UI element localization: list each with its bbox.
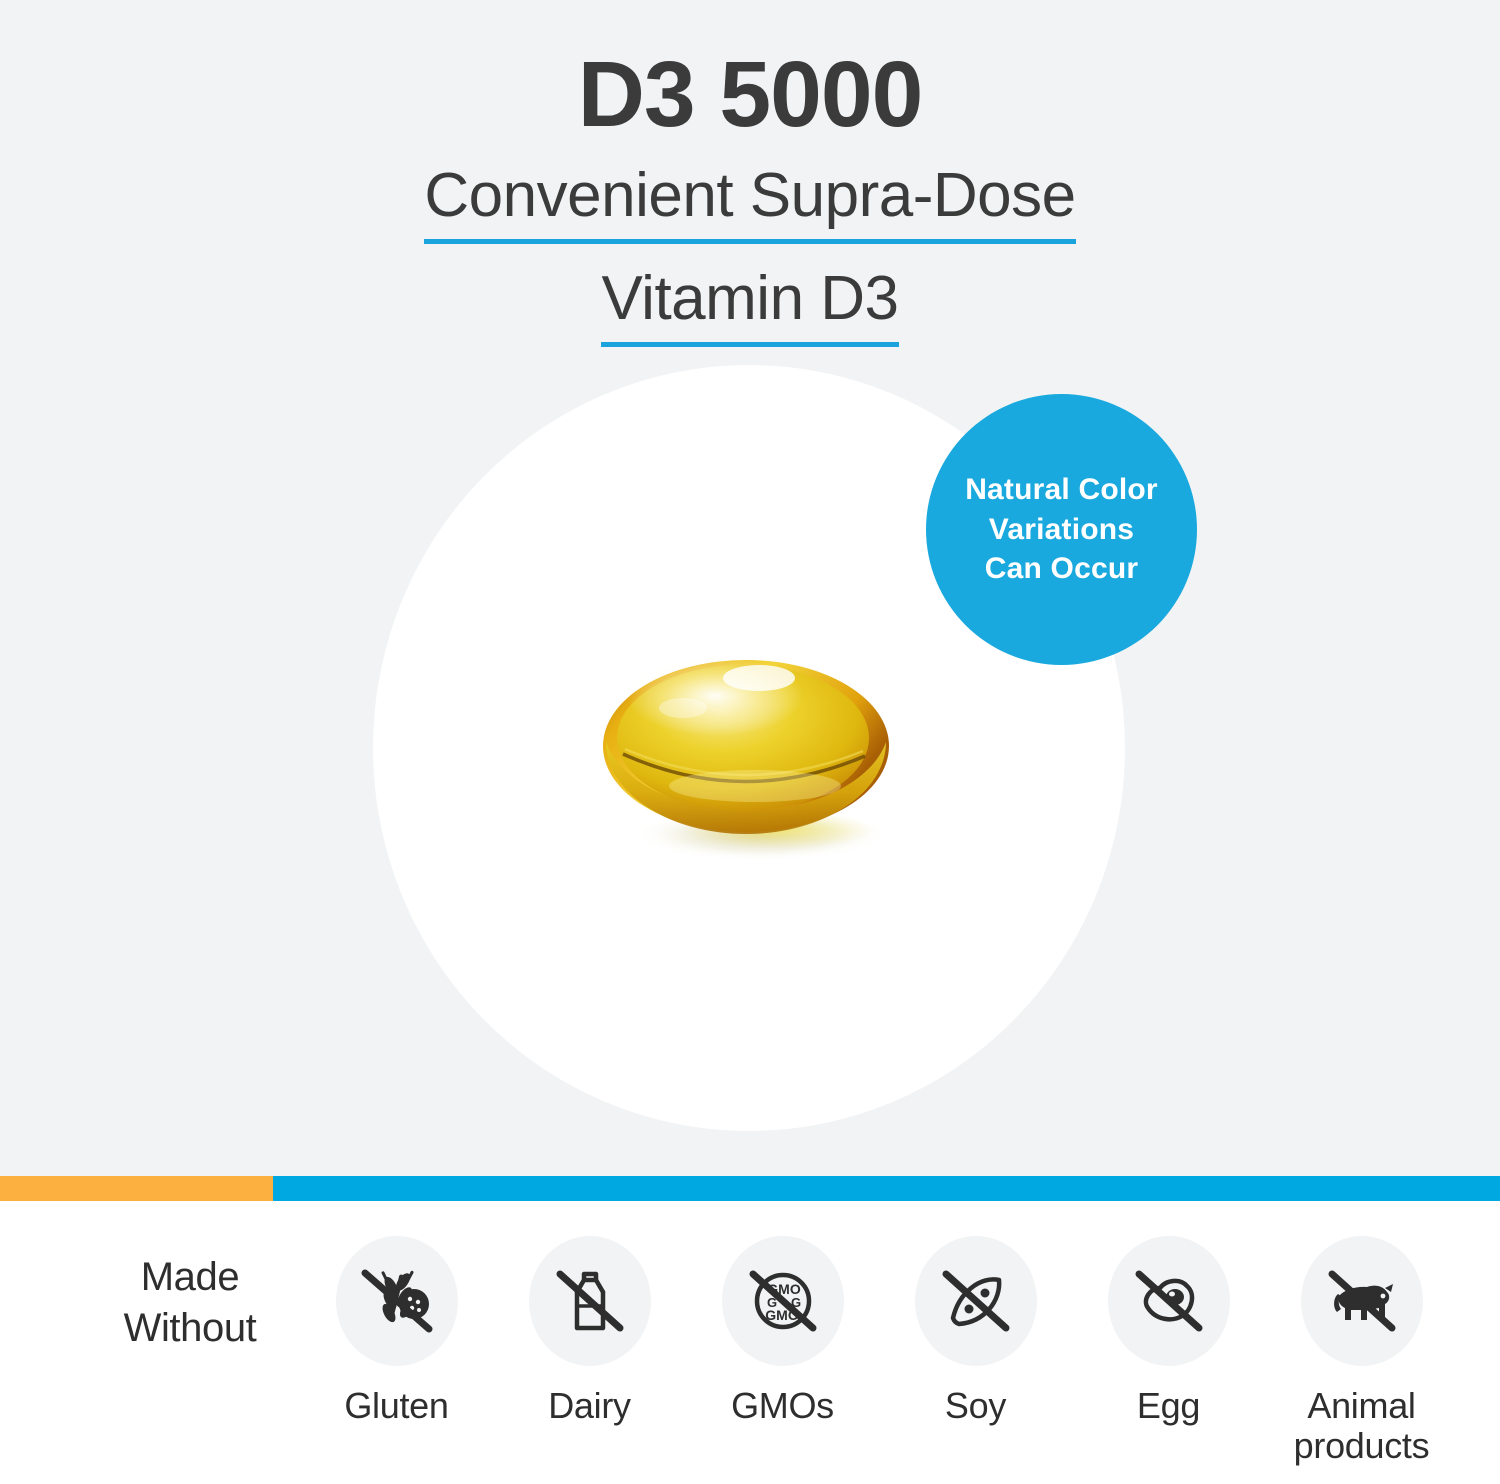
made-without-item-animal-products: Animal products [1265, 1236, 1458, 1467]
divider-orange-segment [0, 1176, 273, 1201]
made-without-item-gluten: Gluten [300, 1236, 493, 1467]
made-without-label-animal-products: Animal products [1269, 1386, 1454, 1467]
page-title: D3 5000 [0, 48, 1500, 141]
subtitle-line2-wrap: Vitamin D3 [0, 266, 1500, 347]
made-without-label-gluten: Gluten [344, 1386, 448, 1426]
made-without-heading-line1: Made [90, 1252, 290, 1303]
made-without-heading: Made Without [90, 1252, 290, 1354]
subtitle-line1-wrap: Convenient Supra-Dose [0, 163, 1500, 244]
made-without-item-dairy: Dairy [493, 1236, 686, 1467]
no-gluten-icon [336, 1236, 458, 1366]
made-without-label-dairy: Dairy [548, 1386, 631, 1426]
badge-line-1: Natural Color [965, 470, 1158, 510]
no-dairy-icon [529, 1236, 651, 1366]
softgel-capsule-image [565, 630, 935, 870]
no-animal-products-icon [1301, 1236, 1423, 1366]
badge-line-3: Can Occur [985, 549, 1139, 589]
subtitle-line1: Convenient Supra-Dose [424, 163, 1075, 244]
no-egg-icon [1108, 1236, 1230, 1366]
divider-blue-segment [273, 1176, 1500, 1201]
made-without-item-soy: Soy [879, 1236, 1072, 1467]
made-without-item-egg: Egg [1072, 1236, 1265, 1467]
natural-color-variations-badge: Natural Color Variations Can Occur [926, 394, 1197, 665]
divider-bar [0, 1176, 1500, 1201]
subtitle-line2: Vitamin D3 [601, 266, 898, 347]
no-gmo-icon: GMO G G GMO [722, 1236, 844, 1366]
made-without-item-gmos: GMO G G GMO GMOs [686, 1236, 879, 1467]
no-soy-icon [915, 1236, 1037, 1366]
badge-line-2: Variations [989, 510, 1134, 550]
product-infographic: D3 5000 Convenient Supra-Dose Vitamin D3 [0, 0, 1500, 1484]
made-without-icons-row: Gluten Dairy [300, 1236, 1460, 1467]
title-block: D3 5000 Convenient Supra-Dose Vitamin D3 [0, 48, 1500, 347]
made-without-label-egg: Egg [1137, 1386, 1200, 1426]
hero-panel: D3 5000 Convenient Supra-Dose Vitamin D3 [0, 0, 1500, 1176]
made-without-label-gmos: GMOs [731, 1386, 834, 1426]
made-without-heading-line2: Without [90, 1303, 290, 1354]
made-without-label-soy: Soy [945, 1386, 1006, 1426]
